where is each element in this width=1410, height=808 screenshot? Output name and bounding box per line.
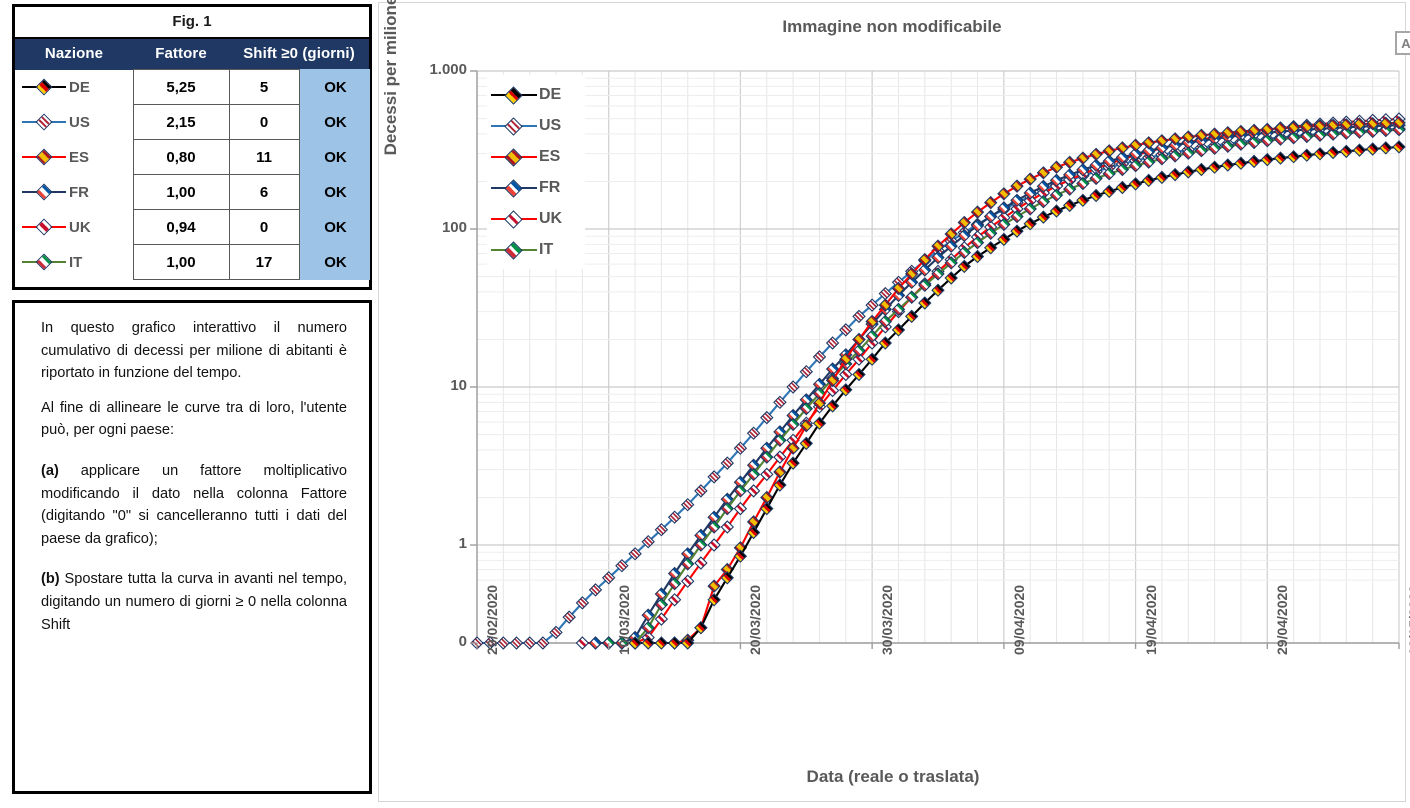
status-badge-UK: OK (299, 210, 369, 245)
shift-input-DE[interactable]: 5 (229, 70, 299, 105)
legend-marker-UK-icon (22, 219, 66, 235)
nation-label-IT: IT (69, 254, 82, 271)
nation-label-ES: ES (69, 149, 89, 166)
fattore-input-UK[interactable]: 0,94 (133, 210, 229, 245)
legend-item-FR: FR (491, 172, 583, 203)
page-root: Fig. 1 Nazione Fattore Shift ≥0 (giorni)… (0, 0, 1410, 808)
legend-marker-UK-icon (491, 211, 537, 227)
x-tick-09-04-2020: 09/04/2020 (1011, 585, 1027, 655)
legend-label-FR: FR (539, 179, 560, 197)
fig1-title: Fig. 1 (15, 7, 369, 39)
legend-marker-FR-icon (22, 184, 66, 200)
x-tick-29-04-2020: 29/04/2020 (1274, 585, 1290, 655)
table-body: DE 5,25 5 OK US 2,15 0 OK (15, 70, 369, 280)
instructions-marker-b: (b) (41, 571, 60, 587)
fattore-input-IT[interactable]: 1,00 (133, 245, 229, 280)
nation-label-DE: DE (69, 79, 90, 96)
table-row: US 2,15 0 OK (15, 105, 369, 140)
legend-marker-DE-icon (491, 87, 537, 103)
status-badge-FR: OK (299, 175, 369, 210)
header-fattore: Fattore (133, 39, 229, 70)
x-tick-20-03-2020: 20/03/2020 (747, 585, 763, 655)
x-axis-title: Data (reale o traslata) (379, 767, 1407, 787)
x-tick-29-02-2020: 29/02/2020 (484, 585, 500, 655)
table-header-row: Nazione Fattore Shift ≥0 (giorni) (15, 39, 369, 70)
nation-label-UK: UK (69, 219, 91, 236)
legend-marker-DE-icon (22, 79, 66, 95)
legend-item-DE: DE (491, 79, 583, 110)
table-row: DE 5,25 5 OK (15, 70, 369, 105)
legend-marker-US-icon (22, 114, 66, 130)
instructions-paragraph-1: In questo grafico interattivo il numero … (41, 317, 347, 385)
shift-input-IT[interactable]: 17 (229, 245, 299, 280)
legend-marker-ES-icon (22, 149, 66, 165)
y-tick-1.000: 1.000 (395, 61, 467, 78)
legend-marker-IT-icon (22, 254, 66, 270)
left-panel: Fig. 1 Nazione Fattore Shift ≥0 (giorni)… (0, 0, 376, 806)
x-tick-10-03-2020: 10/03/2020 (616, 585, 632, 655)
instructions-paragraph-4: (b) Spostare tutta la curva in avanti ne… (41, 568, 347, 636)
x-tick-09-05-2020: 09/05/2020 (1406, 585, 1410, 655)
legend-label-IT: IT (539, 241, 553, 259)
nation-label-FR: FR (69, 184, 89, 201)
legend-label-UK: UK (539, 210, 562, 228)
shift-input-ES[interactable]: 11 (229, 140, 299, 175)
legend-marker-ES-icon (491, 149, 537, 165)
instructions-paragraph-3: (a) applicare un fattore moltiplicativo … (41, 460, 347, 550)
y-tick-0: 0 (395, 633, 467, 650)
x-tick-19-04-2020: 19/04/2020 (1143, 585, 1159, 655)
country-settings-table: Nazione Fattore Shift ≥0 (giorni) DE 5,2… (15, 39, 370, 280)
instructions-text-a: applicare un fattore moltiplicativo modi… (41, 463, 347, 547)
y-tick-100: 100 (395, 219, 467, 236)
chart-legend: DE US ES FR UK IT (487, 75, 585, 269)
table-row: IT 1,00 17 OK (15, 245, 369, 280)
header-nazione: Nazione (15, 39, 133, 70)
cell-nation-ES: ES (15, 140, 133, 175)
legend-label-ES: ES (539, 148, 560, 166)
legend-item-UK: UK (491, 203, 583, 234)
status-badge-DE: OK (299, 70, 369, 105)
legend-item-US: US (491, 110, 583, 141)
legend-marker-FR-icon (491, 180, 537, 196)
legend-marker-IT-icon (491, 242, 537, 258)
instructions-card: In questo grafico interattivo il numero … (12, 300, 372, 794)
fattore-input-ES[interactable]: 0,80 (133, 140, 229, 175)
shift-input-FR[interactable]: 6 (229, 175, 299, 210)
chart-panel: Immagine non modificabile A Decessi per … (378, 2, 1406, 802)
status-badge-IT: OK (299, 245, 369, 280)
instructions-marker-a: (a) (41, 463, 59, 479)
header-shift: Shift ≥0 (giorni) (229, 39, 369, 70)
table-row: ES 0,80 11 OK (15, 140, 369, 175)
instructions-text-b: Spostare tutta la curva in avanti nel te… (41, 571, 347, 632)
fattore-input-US[interactable]: 2,15 (133, 105, 229, 140)
legend-item-ES: ES (491, 141, 583, 172)
fattore-input-DE[interactable]: 5,25 (133, 70, 229, 105)
legend-label-US: US (539, 117, 561, 135)
legend-item-IT: IT (491, 234, 583, 265)
legend-label-DE: DE (539, 86, 561, 104)
table-row: UK 0,94 0 OK (15, 210, 369, 245)
cell-nation-UK: UK (15, 210, 133, 245)
cell-nation-DE: DE (15, 70, 133, 105)
nation-label-US: US (69, 114, 90, 131)
fig1-table-card: Fig. 1 Nazione Fattore Shift ≥0 (giorni)… (12, 4, 372, 290)
table-row: FR 1,00 6 OK (15, 175, 369, 210)
cell-nation-IT: IT (15, 245, 133, 280)
y-tick-10: 10 (395, 377, 467, 394)
plot-area: Decessi per milione di abitanti Data (re… (379, 3, 1407, 803)
y-tick-1: 1 (395, 535, 467, 552)
cell-nation-FR: FR (15, 175, 133, 210)
shift-input-UK[interactable]: 0 (229, 210, 299, 245)
status-badge-US: OK (299, 105, 369, 140)
status-badge-ES: OK (299, 140, 369, 175)
legend-marker-US-icon (491, 118, 537, 134)
x-tick-30-03-2020: 30/03/2020 (879, 585, 895, 655)
fattore-input-FR[interactable]: 1,00 (133, 175, 229, 210)
shift-input-US[interactable]: 0 (229, 105, 299, 140)
instructions-paragraph-2: Al fine di allineare le curve tra di lor… (41, 397, 347, 442)
cell-nation-US: US (15, 105, 133, 140)
